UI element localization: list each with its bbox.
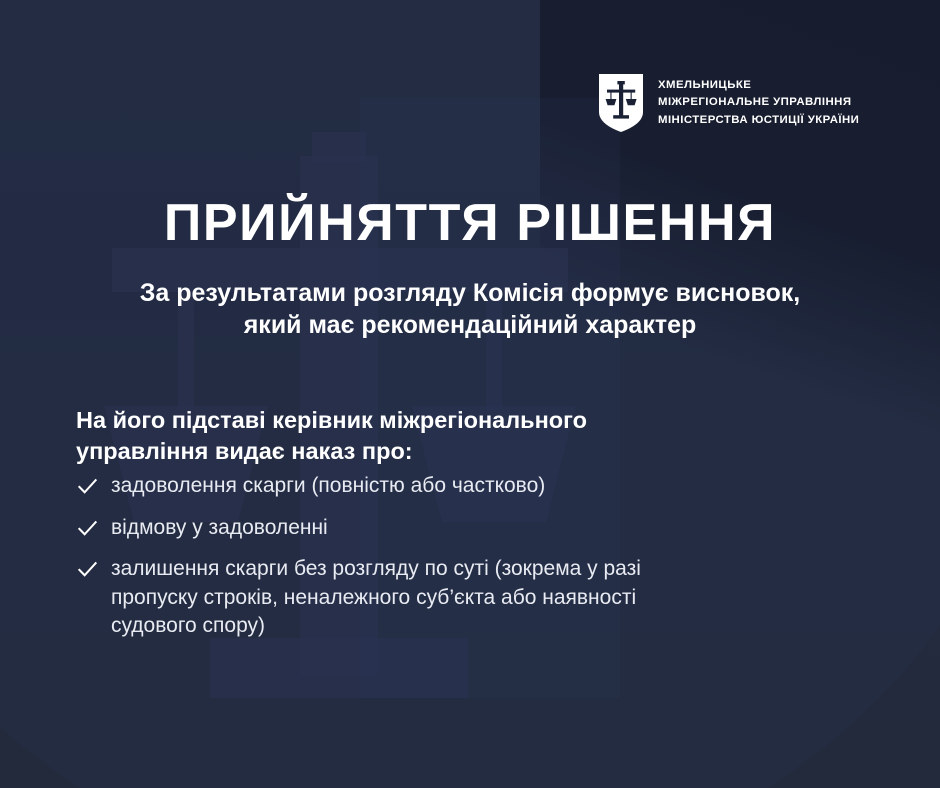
subtitle-line-2: який має рекомендаційний характер — [70, 309, 870, 341]
check-icon — [76, 475, 99, 498]
logo-line-1: ХМЕЛЬНИЦЬКЕ — [658, 78, 859, 93]
body-heading-line-1: На його підставі керівник міжрегіонально… — [76, 407, 587, 433]
list-item-line: задоволення скарги (повністю або частков… — [111, 472, 545, 501]
list-item-line: судового спору) — [111, 612, 641, 641]
body-heading-line-2: управління видає наказ про: — [76, 436, 776, 467]
slide-canvas: ХМЕЛЬНИЦЬКЕ МІЖРЕГІОНАЛЬНЕ УПРАВЛІННЯ МІ… — [0, 0, 940, 788]
body-heading: На його підставі керівник міжрегіонально… — [76, 405, 776, 468]
check-icon — [76, 558, 99, 581]
list-item-line: залишення скарги без розгляду по суті (з… — [111, 555, 641, 584]
bullet-list: задоволення скарги (повністю або частков… — [76, 472, 876, 641]
slide-title: ПРИЙНЯТТЯ РІШЕННЯ — [0, 196, 940, 251]
subtitle-line-1: За результатами розгляду Комісія формує … — [140, 279, 801, 307]
list-item: відмову у задоволенні — [76, 514, 876, 543]
list-item-text: задоволення скарги (повністю або частков… — [111, 472, 545, 501]
list-item: залишення скарги без розгляду по суті (з… — [76, 555, 876, 641]
list-item: задоволення скарги (повністю або частков… — [76, 472, 876, 501]
list-item-text: залишення скарги без розгляду по суті (з… — [111, 555, 641, 641]
logo-text-block: ХМЕЛЬНИЦЬКЕ МІЖРЕГІОНАЛЬНЕ УПРАВЛІННЯ МІ… — [658, 78, 859, 127]
list-item-text: відмову у задоволенні — [111, 514, 328, 543]
list-item-line: відмову у задоволенні — [111, 514, 328, 543]
shield-scales-of-justice-icon — [597, 72, 645, 134]
logo-line-2: МІЖРЕГІОНАЛЬНЕ УПРАВЛІННЯ — [658, 95, 859, 110]
list-item-line: пропуску строків, неналежного суб’єкта а… — [111, 584, 641, 613]
check-icon — [76, 517, 99, 540]
organization-logo: ХМЕЛЬНИЦЬКЕ МІЖРЕГІОНАЛЬНЕ УПРАВЛІННЯ МІ… — [597, 72, 859, 134]
logo-line-3: МІНІСТЕРСТВА ЮСТИЦІЇ УКРАЇНИ — [658, 113, 859, 128]
slide-subtitle: За результатами розгляду Комісія формує … — [70, 277, 870, 341]
